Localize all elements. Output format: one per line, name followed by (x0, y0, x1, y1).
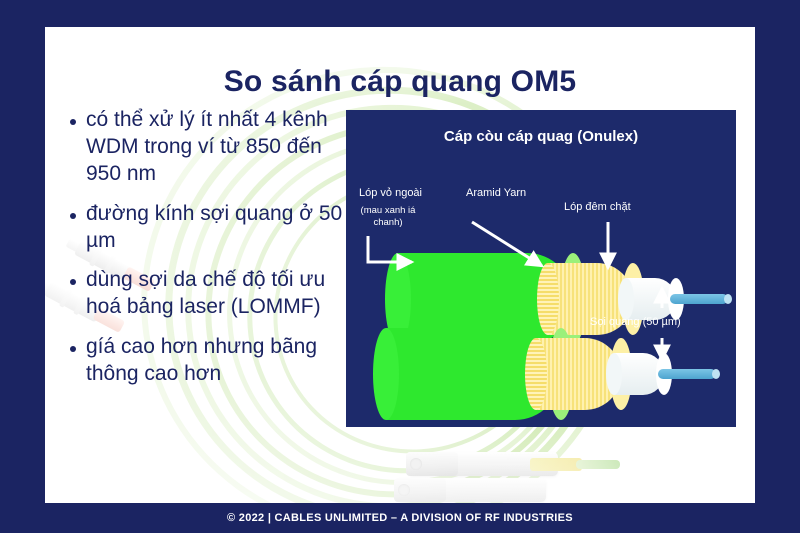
diagram-leader-arrows (346, 110, 736, 427)
list-item-label: gíá cao hơn nhưng bãng thông cao hơn (86, 334, 345, 388)
list-item-label: dùng sợi da chế độ tối ưu hoá bảng laser… (86, 267, 345, 321)
label-tight-buffer: Lóp đêm chặt (564, 200, 631, 214)
label-fiber-core: Sọi quang (50 µm) (590, 315, 681, 329)
list-item-label: đường kính sợi quang ở 50 µm (86, 201, 345, 255)
label-outer-jacket: Lóp vỏ ngoài (359, 186, 422, 200)
list-item-label: có thể xử lý ít nhất 4 kênh WDM trong ví… (86, 107, 345, 188)
list-item: gíá cao hơn nhưng bãng thông cao hơn (70, 334, 345, 388)
bullet-dot-icon (70, 119, 76, 125)
diagram-panel: Cáp còu cáp quag (Onulex) (346, 110, 736, 427)
label-outer-jacket-sub: (mau xanh iá chanh) (356, 205, 420, 230)
slide-card: So sánh cáp quang OM5 có thể xử lý ít nh… (45, 27, 755, 503)
list-item: đường kính sợi quang ở 50 µm (70, 201, 345, 255)
bullet-dot-icon (70, 213, 76, 219)
list-item: có thể xử lý ít nhất 4 kênh WDM trong ví… (70, 107, 345, 188)
footer-copyright: © 2022 | CABLES UNLIMITED – A DIVISION O… (0, 503, 800, 533)
label-aramid-yarn: Aramid Yarn (466, 186, 526, 200)
bullet-dot-icon (70, 346, 76, 352)
list-item: dùng sợi da chế độ tối ưu hoá bảng laser… (70, 267, 345, 321)
arrow-outer-jacket (368, 236, 412, 262)
page-title: So sánh cáp quang OM5 (45, 65, 755, 99)
bullet-dot-icon (70, 279, 76, 285)
arrow-aramid-yarn (472, 222, 542, 266)
slide: So sánh cáp quang OM5 có thể xử lý ít nh… (0, 0, 800, 533)
bullet-list: có thể xử lý ít nhất 4 kênh WDM trong ví… (70, 107, 345, 401)
